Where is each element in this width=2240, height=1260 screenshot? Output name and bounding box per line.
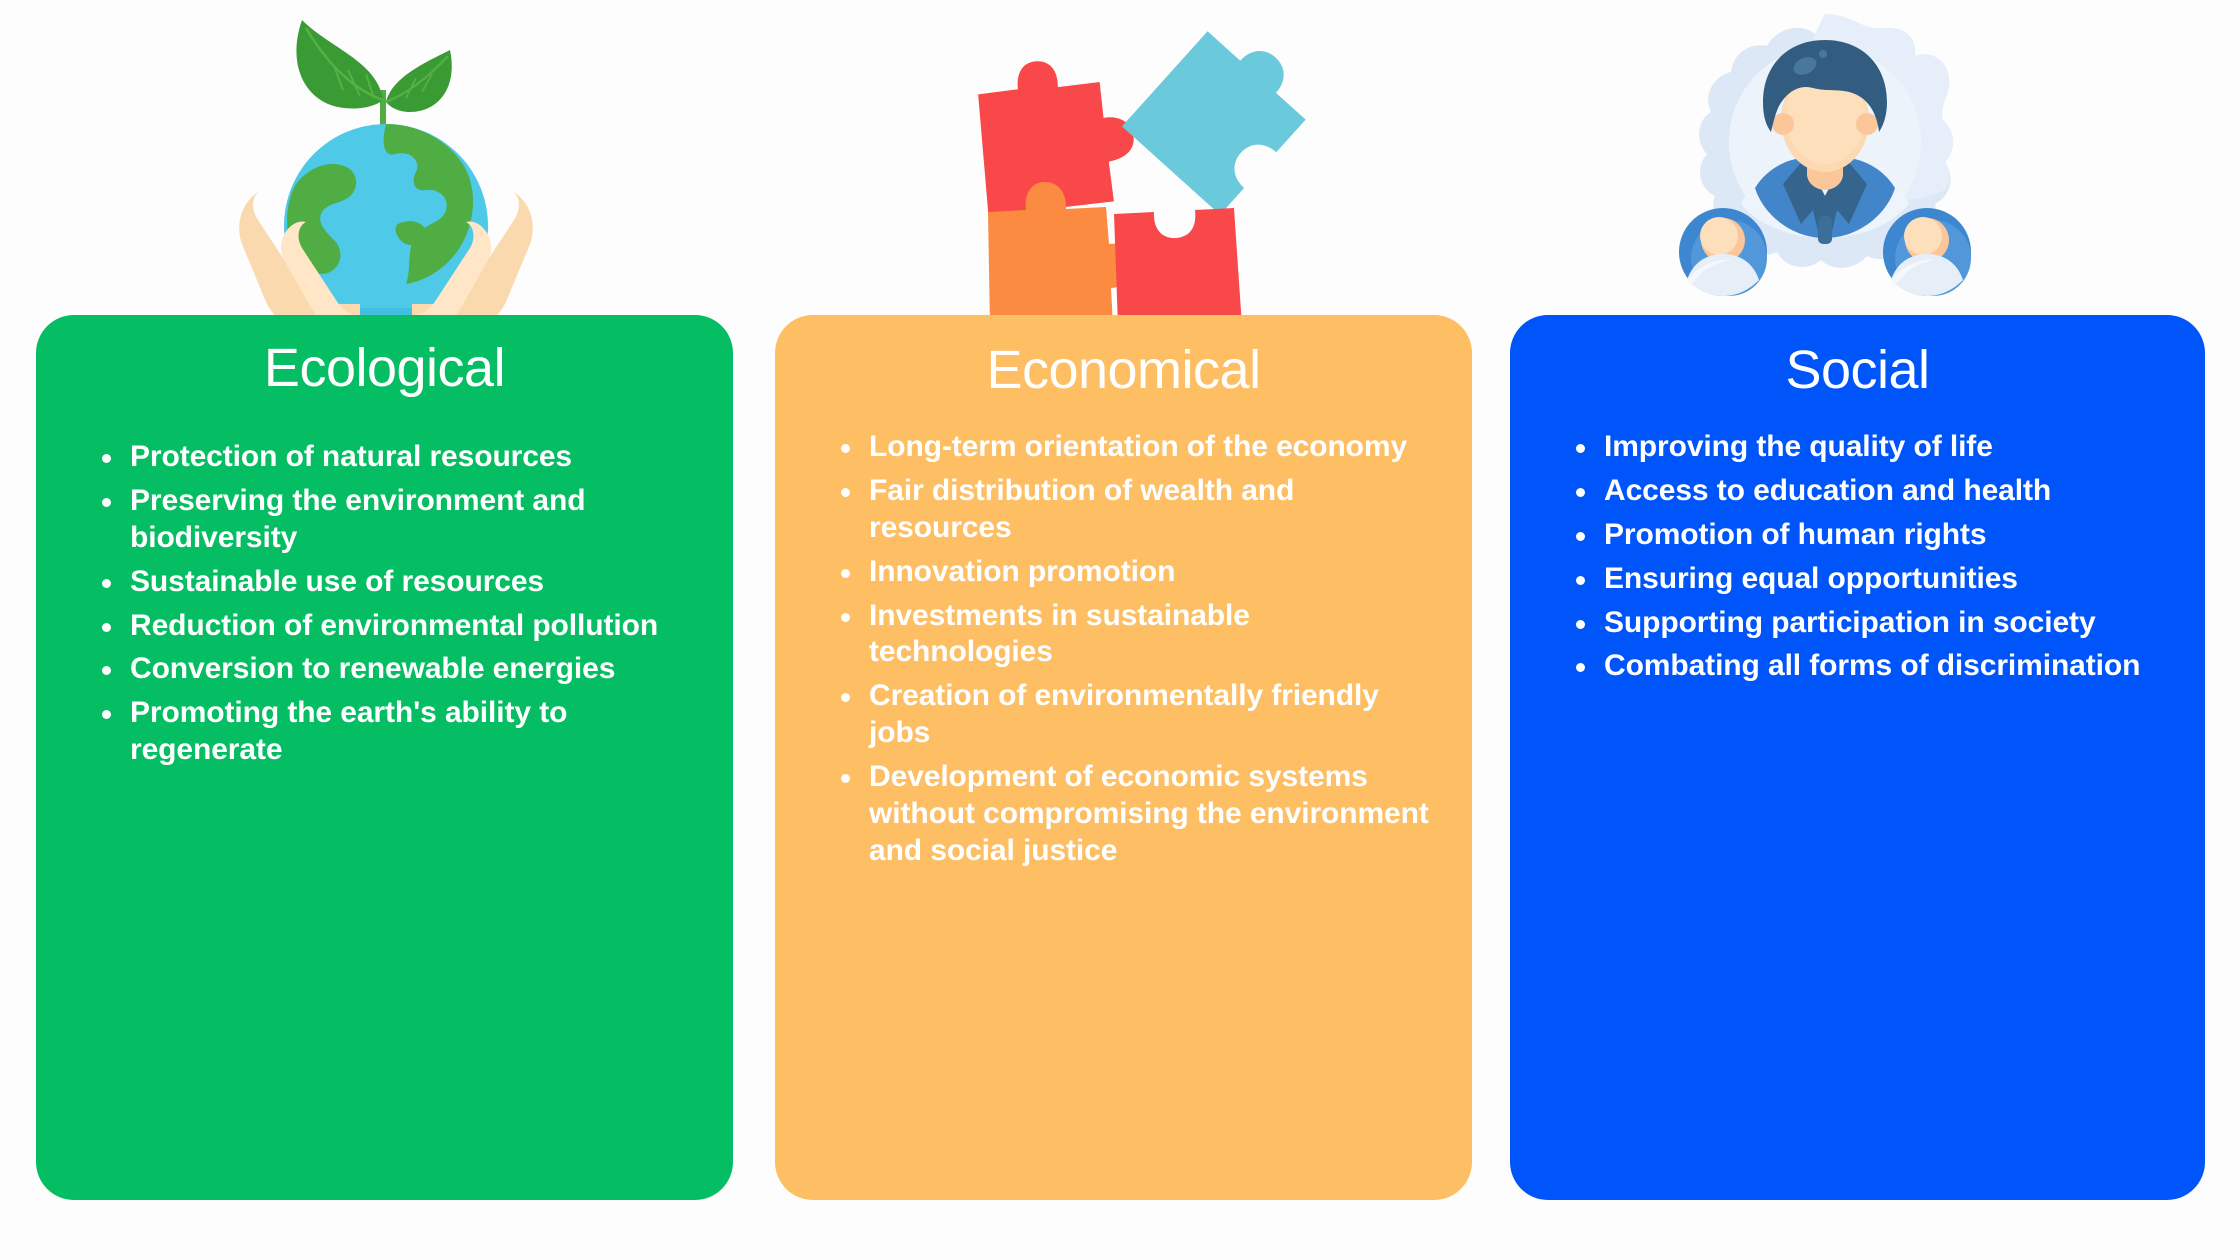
card-title-ecological: Ecological (36, 315, 733, 395)
list-item: Investments in sustainable technologies (837, 598, 1436, 672)
card-title-social: Social (1510, 315, 2205, 397)
list-item: Protection of natural resources (98, 439, 689, 476)
list-item: Preserving the environment and biodivers… (98, 483, 689, 557)
list-item: Development of economic systems without … (837, 759, 1436, 870)
list-item: Ensuring equal opportunities (1572, 561, 2175, 598)
infographic-canvas: Ecological Protection of natural resourc… (0, 0, 2240, 1260)
list-item: Creation of environmentally friendly job… (837, 678, 1436, 752)
list-item: Conversion to renewable energies (98, 651, 689, 688)
bullet-list-ecological: Protection of natural resources Preservi… (36, 439, 733, 769)
globe-in-hands-icon (240, 8, 532, 328)
list-item: Promoting the earth's ability to regener… (98, 695, 689, 769)
list-item: Promotion of human rights (1572, 517, 2175, 554)
card-title-economical: Economical (775, 315, 1472, 397)
list-item: Combating all forms of discrimination (1572, 648, 2175, 685)
list-item: Long-term orientation of the economy (837, 429, 1436, 466)
list-item: Supporting participation in society (1572, 605, 2175, 642)
list-item: Reduction of environmental pollution (98, 608, 689, 645)
list-item: Improving the quality of life (1572, 429, 2175, 466)
bullet-list-economical: Long-term orientation of the economy Fai… (775, 429, 1472, 870)
list-item: Sustainable use of resources (98, 564, 689, 601)
list-item: Fair distribution of wealth and resource… (837, 473, 1436, 547)
people-gear-icon (1655, 8, 1995, 338)
card-ecological: Ecological Protection of natural resourc… (36, 315, 733, 1200)
puzzle-pieces-icon (962, 8, 1302, 328)
list-item: Innovation promotion (837, 554, 1436, 591)
list-item: Access to education and health (1572, 473, 2175, 510)
card-economical: Economical Long-term orientation of the … (775, 315, 1472, 1200)
card-social: Social Improving the quality of life Acc… (1510, 315, 2205, 1200)
bullet-list-social: Improving the quality of life Access to … (1510, 429, 2205, 685)
